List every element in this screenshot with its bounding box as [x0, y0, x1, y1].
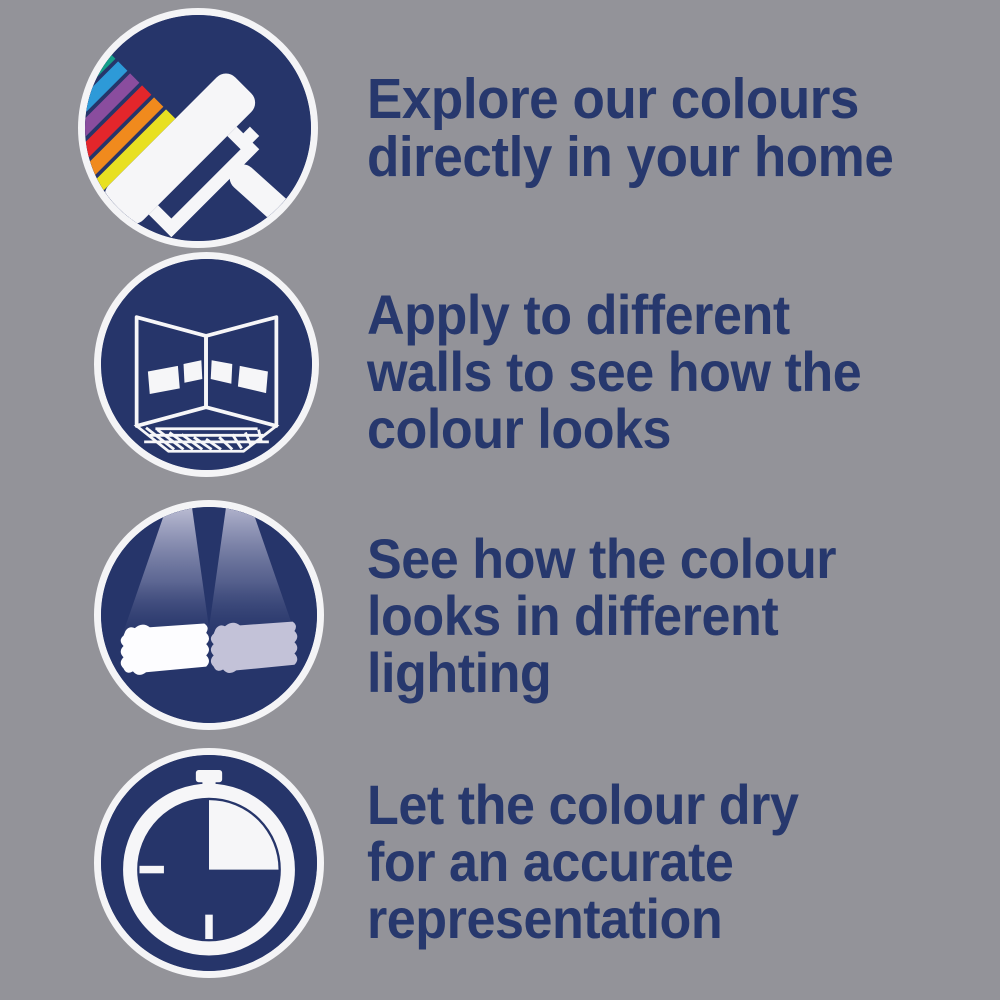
step-3-line-3: lighting — [367, 644, 836, 701]
swatch-2 — [184, 360, 203, 383]
step-1-text: Explore our colours directly in your hom… — [367, 70, 893, 186]
room-walls-icon — [94, 252, 319, 477]
step-2-line-1: Apply to different — [367, 286, 861, 343]
dim-light-swatch — [211, 622, 297, 673]
step-1-line-1: Explore our colours — [367, 70, 893, 128]
tick-6-oclock — [205, 915, 213, 939]
step-3-text: See how the colour looks in different li… — [367, 530, 836, 701]
step-2-text: Apply to different walls to see how the … — [367, 286, 861, 457]
spotlights-swatches-icon — [94, 500, 324, 730]
tick-9-oclock — [140, 866, 164, 874]
step-4-line-1: Let the colour dry — [367, 776, 798, 833]
step-2-line-3: colour looks — [367, 400, 861, 457]
step-4-line-2: for an accurate — [367, 833, 798, 890]
step-1-line-2: directly in your home — [367, 128, 893, 186]
step-4-line-3: representation — [367, 890, 798, 947]
step-4-text: Let the colour dry for an accurate repre… — [367, 776, 798, 947]
stopwatch-icon — [94, 748, 324, 978]
step-3-line-1: See how the colour — [367, 530, 836, 587]
step-2-line-2: walls to see how the — [367, 343, 861, 400]
paint-roller-icon — [78, 8, 318, 248]
infographic-board: Explore our colours directly in your hom… — [0, 0, 1000, 1000]
step-3-line-2: looks in different — [367, 587, 836, 644]
bright-light-swatch — [121, 623, 209, 674]
